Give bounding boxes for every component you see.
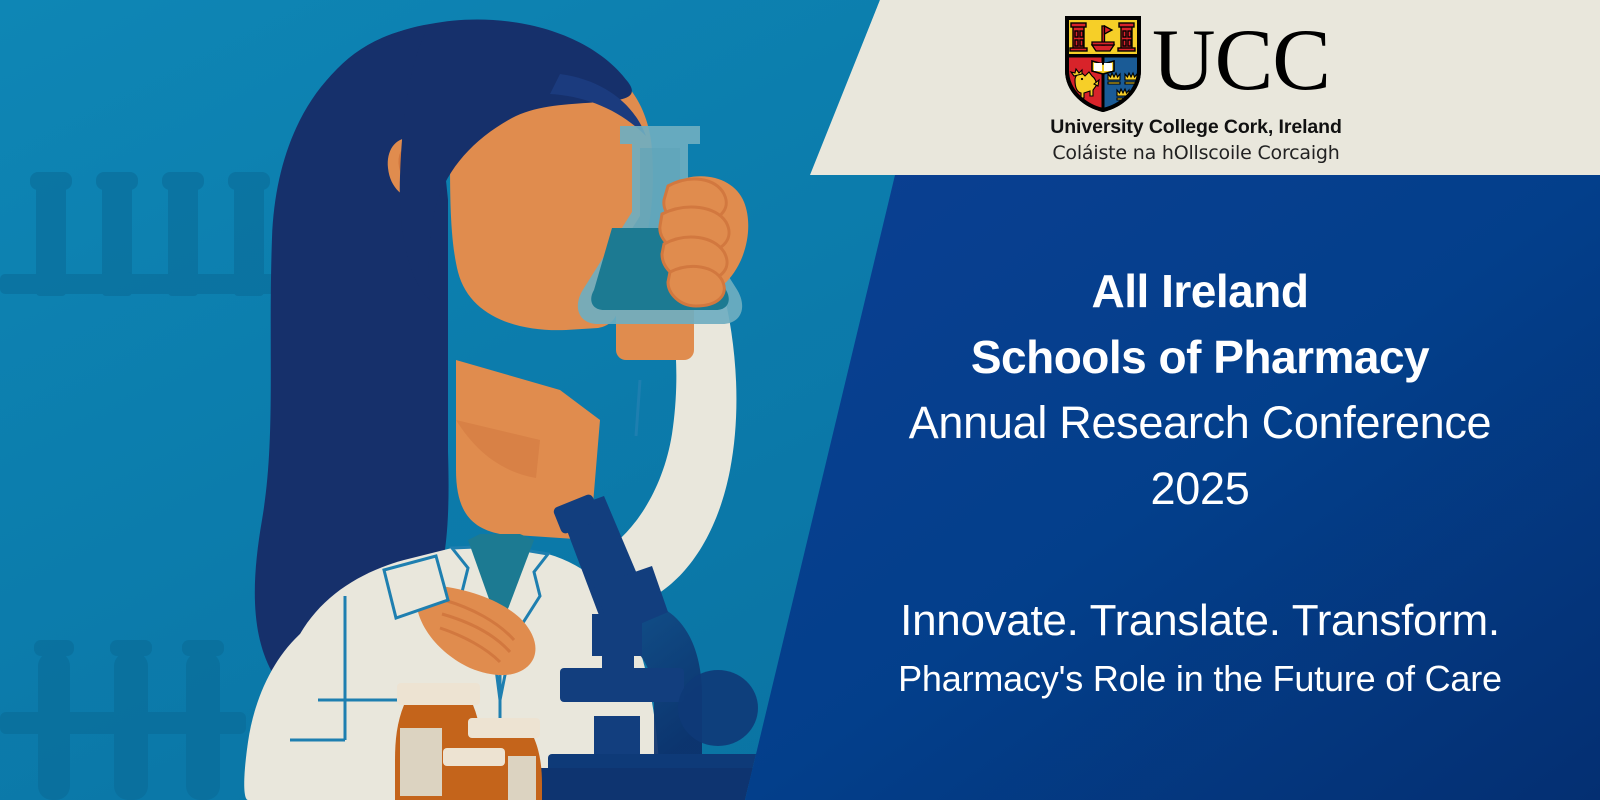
title-line-schools-of-pharmacy: Schools of Pharmacy <box>800 324 1600 390</box>
ucc-name-english: University College Cork, Ireland <box>1050 116 1342 139</box>
microscope-focus-knob <box>678 670 758 746</box>
ucc-crest-icon <box>1062 14 1144 112</box>
microscope-objective-upper <box>592 614 642 656</box>
pill-bottle-small <box>443 766 506 800</box>
title-line-all-ireland: All Ireland <box>800 258 1600 324</box>
pill-bottle-label-large <box>400 728 442 796</box>
ucc-logo-top-row: UCC <box>1062 14 1330 112</box>
title-line-year: 2025 <box>800 456 1600 522</box>
tagline-main: Innovate. Translate. Transform. <box>800 590 1600 652</box>
title-line-annual-research-conference: Annual Research Conference <box>800 390 1600 456</box>
conference-title-block: All Ireland Schools of Pharmacy Annual R… <box>800 258 1600 522</box>
tagline-sub: Pharmacy's Role in the Future of Care <box>800 652 1600 706</box>
conference-poster: UCC University College Cork, Ireland Col… <box>0 0 1600 800</box>
pill-bottle-cap-medium <box>468 718 540 738</box>
microscope-pillar <box>594 716 640 756</box>
pill-bottle-label-medium <box>508 756 536 800</box>
conference-tagline-block: Innovate. Translate. Transform. Pharmacy… <box>800 590 1600 706</box>
microscope-stage <box>560 668 684 702</box>
pill-bottle-cap-small <box>443 748 505 766</box>
ucc-logo: UCC University College Cork, Ireland Col… <box>1046 14 1346 164</box>
upper-hand-fingers <box>660 179 729 306</box>
ucc-wordmark: UCC <box>1152 17 1330 105</box>
conference-text-panel: All Ireland Schools of Pharmacy Annual R… <box>800 200 1600 800</box>
pill-bottle-cap-large <box>397 683 480 705</box>
ucc-name-irish: Coláiste na hOllscoile Corcaigh <box>1052 142 1339 164</box>
